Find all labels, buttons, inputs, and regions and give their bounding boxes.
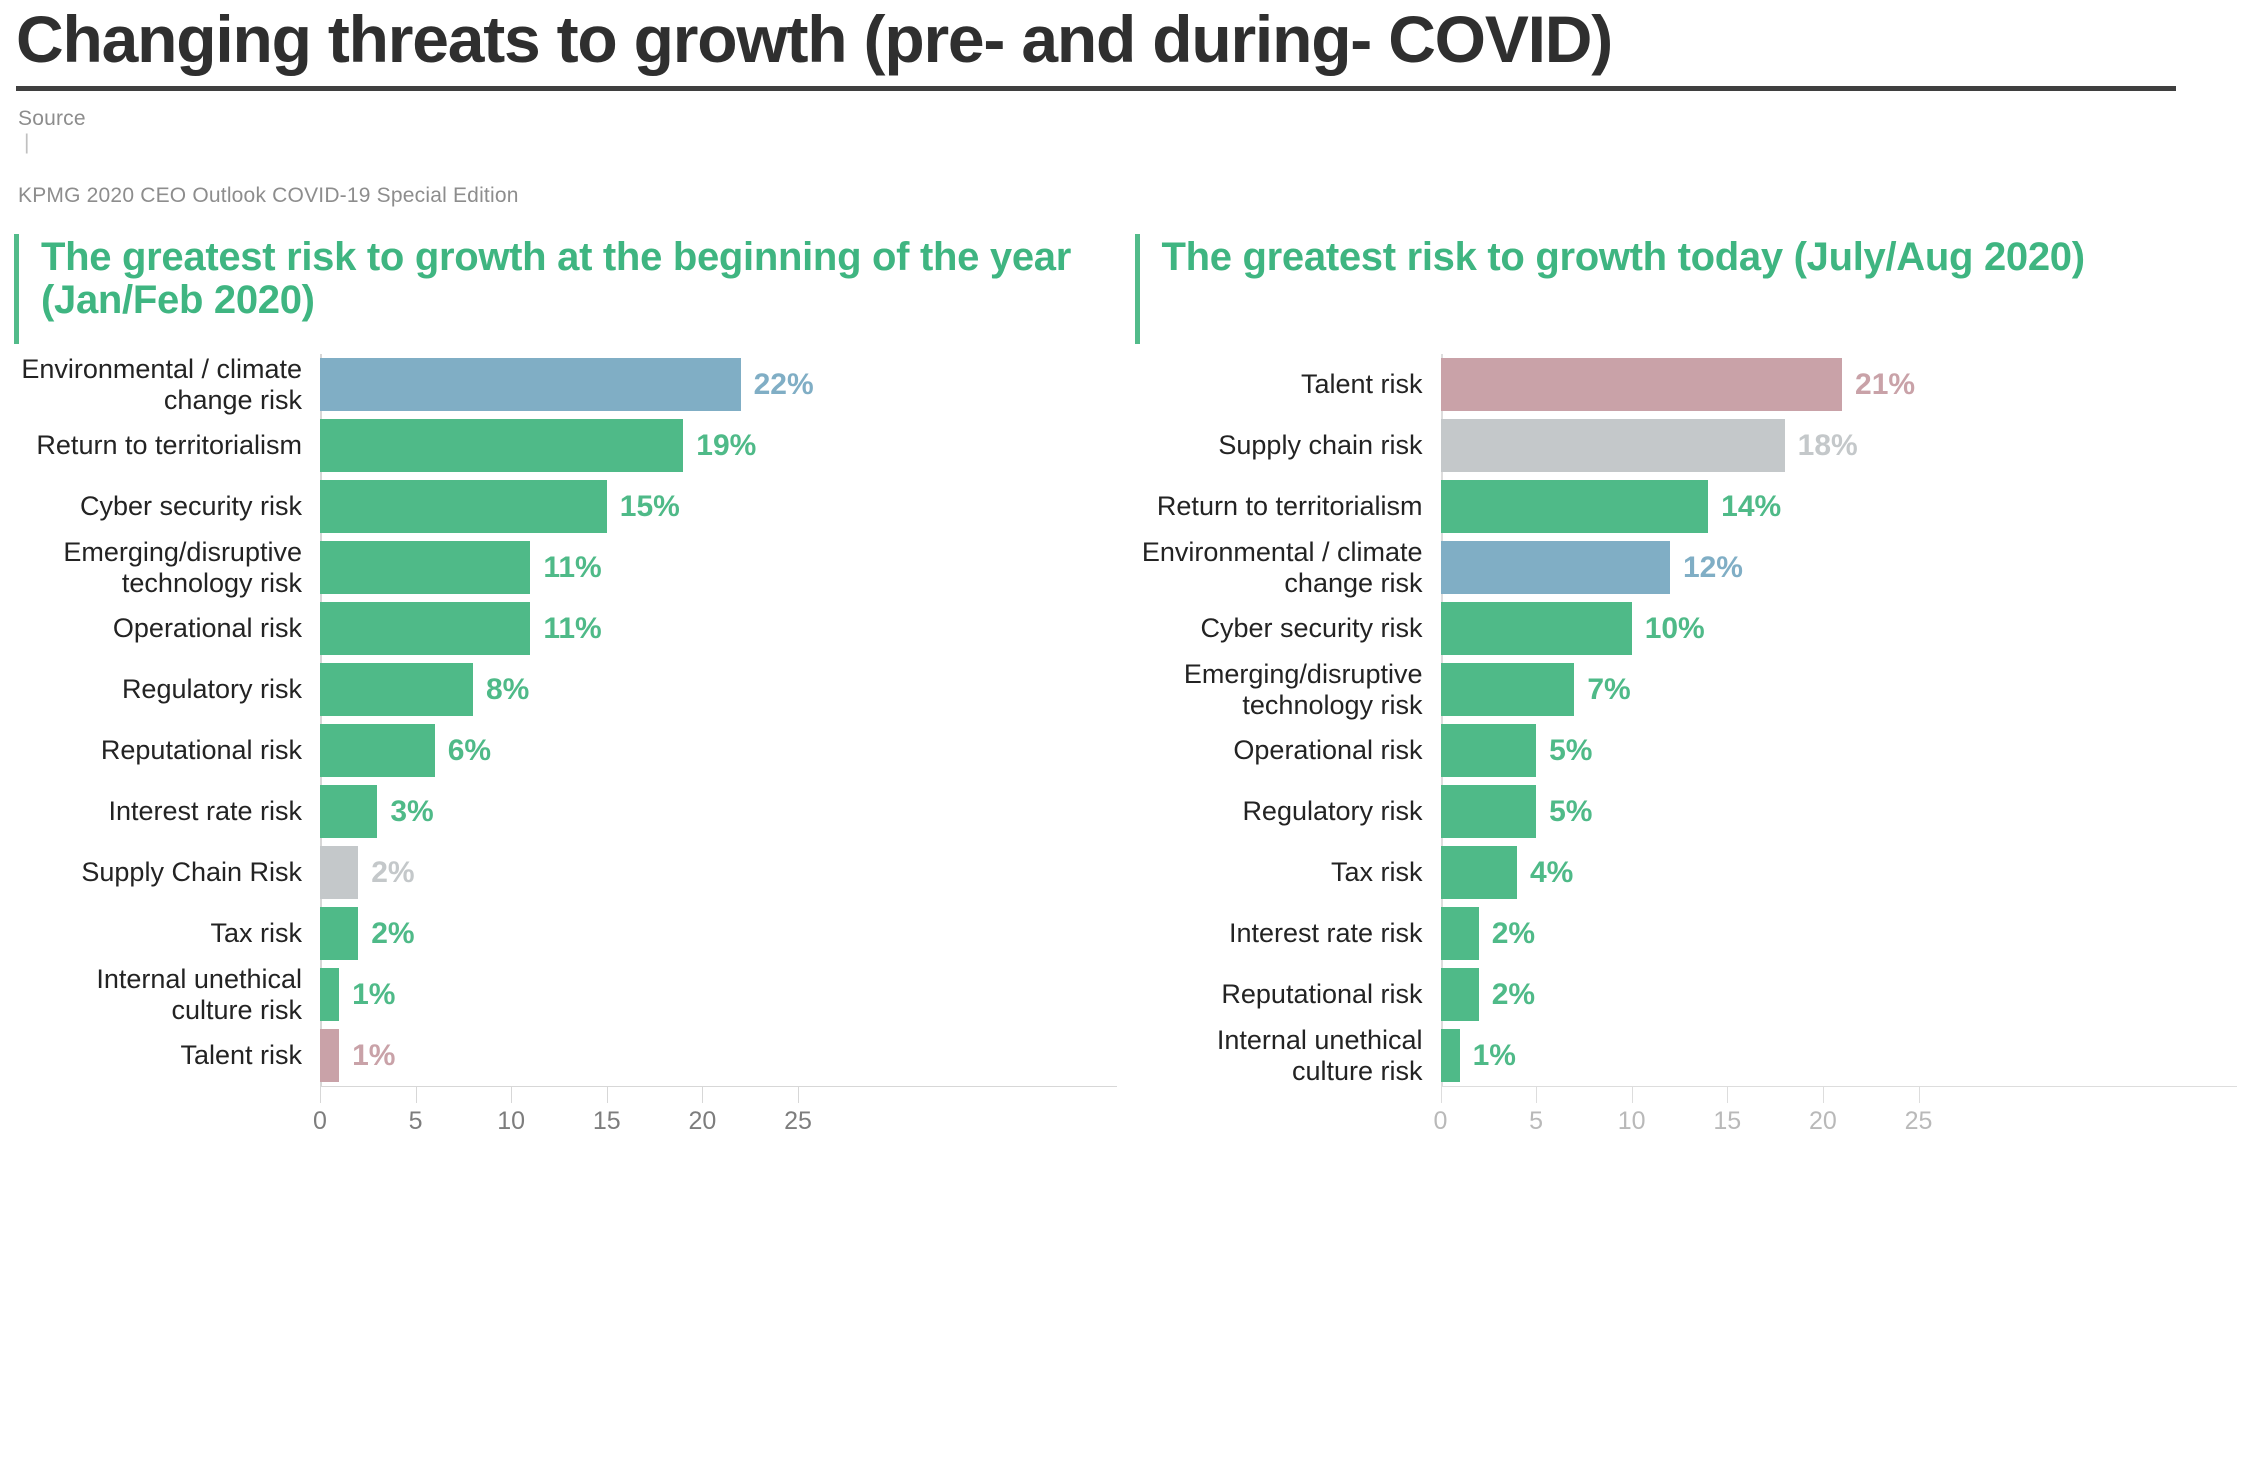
bar-plot-area: 10% bbox=[1441, 598, 2238, 659]
heading-accent-bar-right bbox=[1135, 234, 1140, 344]
bar-row: Reputational risk2% bbox=[1135, 964, 2238, 1025]
bar-row: Operational risk11% bbox=[14, 598, 1117, 659]
bar-plot-area: 5% bbox=[1441, 781, 2238, 842]
chart-panel-left: The greatest risk to growth at the begin… bbox=[14, 234, 1117, 1133]
bar-segment bbox=[1441, 541, 1670, 594]
axis-tick-mark bbox=[1632, 1087, 1633, 1103]
bar-value-label: 2% bbox=[1492, 978, 1535, 1012]
bar-category-label: Emerging/disruptive technology risk bbox=[1135, 659, 1441, 719]
bar-row: Cyber security risk10% bbox=[1135, 598, 2238, 659]
bar-row: Tax risk2% bbox=[14, 903, 1117, 964]
bar-category-label: Talent risk bbox=[14, 1040, 320, 1070]
bar-category-label: Regulatory risk bbox=[1135, 796, 1441, 826]
bar-segment bbox=[320, 846, 358, 899]
axis-tick-label: 10 bbox=[1618, 1107, 1646, 1136]
bar-plot-area: 4% bbox=[1441, 842, 2238, 903]
bar-row: Environmental / climate change risk22% bbox=[14, 354, 1117, 415]
bar-category-label: Environmental / climate change risk bbox=[14, 354, 320, 414]
axis-tick-mark bbox=[702, 1087, 703, 1103]
axis-tick-label: 5 bbox=[409, 1107, 423, 1136]
chart-panel-right: The greatest risk to growth today (July/… bbox=[1135, 234, 2238, 1133]
axis-tick-mark bbox=[1441, 1087, 1442, 1103]
bar-row: Return to territorialism14% bbox=[1135, 476, 2238, 537]
bar-plot-area: 1% bbox=[1441, 1025, 2238, 1086]
bar-value-label: 12% bbox=[1683, 551, 1743, 585]
page-title: Changing threats to growth (pre- and dur… bbox=[14, 0, 2237, 86]
bar-plot-area: 3% bbox=[320, 781, 1117, 842]
bar-category-label: Tax risk bbox=[1135, 857, 1441, 887]
bar-value-label: 11% bbox=[543, 612, 601, 646]
chart-heading-text-right: The greatest risk to growth today (July/… bbox=[1162, 234, 2085, 279]
axis-tick-label: 10 bbox=[497, 1107, 525, 1136]
bar-plot-area: 1% bbox=[320, 964, 1117, 1025]
bar-segment bbox=[1441, 419, 1785, 472]
bar-plot-area: 11% bbox=[320, 537, 1117, 598]
axis-tick-mark bbox=[1919, 1087, 1920, 1103]
value-axis-ticks-left: 0510152025 bbox=[320, 1087, 1117, 1133]
bar-value-label: 4% bbox=[1530, 856, 1573, 890]
bar-row: Reputational risk6% bbox=[14, 720, 1117, 781]
value-axis-ticks-right: 0510152025 bbox=[1441, 1087, 2238, 1133]
bar-plot-area: 2% bbox=[320, 842, 1117, 903]
bar-category-label: Tax risk bbox=[14, 918, 320, 948]
bar-segment bbox=[1441, 785, 1537, 838]
bar-segment bbox=[1441, 968, 1479, 1021]
bar-category-label: Emerging/disruptive technology risk bbox=[14, 537, 320, 597]
bar-value-label: 10% bbox=[1645, 612, 1705, 646]
bar-row: Emerging/disruptive technology risk7% bbox=[1135, 659, 2238, 720]
bar-category-label: Operational risk bbox=[14, 613, 320, 643]
bar-category-label: Operational risk bbox=[1135, 735, 1441, 765]
bar-segment bbox=[320, 480, 607, 533]
bar-row: Regulatory risk5% bbox=[1135, 781, 2238, 842]
axis-tick-mark bbox=[1823, 1087, 1824, 1103]
bar-plot-area: 22% bbox=[320, 354, 1117, 415]
bar-category-label: Supply Chain Risk bbox=[14, 857, 320, 887]
bar-segment bbox=[320, 968, 339, 1021]
axis-tick-mark bbox=[320, 1087, 321, 1103]
bar-category-label: Regulatory risk bbox=[14, 674, 320, 704]
bar-row: Environmental / climate change risk12% bbox=[1135, 537, 2238, 598]
bar-plot-area: 11% bbox=[320, 598, 1117, 659]
bar-category-label: Talent risk bbox=[1135, 369, 1441, 399]
bar-value-label: 1% bbox=[1473, 1039, 1516, 1073]
bar-value-label: 5% bbox=[1549, 734, 1592, 768]
bar-segment bbox=[1441, 846, 1517, 899]
bar-row: Talent risk1% bbox=[14, 1025, 1117, 1086]
bar-value-label: 14% bbox=[1721, 490, 1781, 524]
bar-plot-area: 2% bbox=[1441, 964, 2238, 1025]
bar-row: Supply chain risk18% bbox=[1135, 415, 2238, 476]
axis-tick-mark bbox=[416, 1087, 417, 1103]
source-label: Source bbox=[18, 107, 86, 130]
bar-value-label: 3% bbox=[390, 795, 433, 829]
bar-plot-area: 19% bbox=[320, 415, 1117, 476]
bar-category-label: Environmental / climate change risk bbox=[1135, 537, 1441, 597]
chart-heading-text-left: The greatest risk to growth at the begin… bbox=[41, 234, 1117, 322]
source-text: KPMG 2020 CEO Outlook COVID-19 Special E… bbox=[18, 184, 519, 207]
bar-category-label: Reputational risk bbox=[14, 735, 320, 765]
bar-segment bbox=[1441, 724, 1537, 777]
bar-category-label: Interest rate risk bbox=[14, 796, 320, 826]
bar-row: Emerging/disruptive technology risk11% bbox=[14, 537, 1117, 598]
axis-tick-mark bbox=[1727, 1087, 1728, 1103]
bar-value-label: 19% bbox=[696, 429, 756, 463]
bar-value-label: 8% bbox=[486, 673, 529, 707]
axis-tick-label: 5 bbox=[1529, 1107, 1543, 1136]
bar-segment bbox=[320, 358, 741, 411]
bar-value-label: 18% bbox=[1798, 429, 1858, 463]
bar-row: Operational risk5% bbox=[1135, 720, 2238, 781]
bar-row: Return to territorialism19% bbox=[14, 415, 1117, 476]
axis-tick-label: 25 bbox=[1905, 1107, 1933, 1136]
bar-segment bbox=[1441, 602, 1632, 655]
bar-segment bbox=[320, 907, 358, 960]
chart-heading-left: The greatest risk to growth at the begin… bbox=[14, 234, 1117, 344]
bar-plot-area: 1% bbox=[320, 1025, 1117, 1086]
bar-row: Talent risk21% bbox=[1135, 354, 2238, 415]
bar-segment bbox=[1441, 480, 1709, 533]
bar-category-label: Reputational risk bbox=[1135, 979, 1441, 1009]
bar-segment bbox=[320, 724, 435, 777]
bar-category-label: Return to territorialism bbox=[14, 430, 320, 460]
bar-segment bbox=[1441, 663, 1575, 716]
bar-segment bbox=[1441, 1029, 1460, 1082]
bar-rows-right: Talent risk21%Supply chain risk18%Return… bbox=[1135, 354, 2238, 1086]
axis-tick-mark bbox=[607, 1087, 608, 1103]
bar-row: Tax risk4% bbox=[1135, 842, 2238, 903]
bar-category-label: Internal unethical culture risk bbox=[14, 964, 320, 1024]
bar-value-label: 2% bbox=[371, 856, 414, 890]
bar-value-label: 1% bbox=[352, 978, 395, 1012]
bar-row: Supply Chain Risk2% bbox=[14, 842, 1117, 903]
axis-tick-mark bbox=[511, 1087, 512, 1103]
bar-row: Regulatory risk8% bbox=[14, 659, 1117, 720]
heading-accent-bar-left bbox=[14, 234, 19, 344]
source-line: Source | KPMG 2020 CEO Outlook COVID-19 … bbox=[14, 91, 2237, 208]
bar-plot-area: 21% bbox=[1441, 354, 2238, 415]
bar-segment bbox=[320, 541, 530, 594]
source-divider: | bbox=[18, 131, 2237, 184]
bar-value-label: 5% bbox=[1549, 795, 1592, 829]
bar-rows-left: Environmental / climate change risk22%Re… bbox=[14, 354, 1117, 1086]
bar-plot-area: 18% bbox=[1441, 415, 2238, 476]
bar-segment bbox=[320, 1029, 339, 1082]
axis-tick-label: 15 bbox=[593, 1107, 621, 1136]
bar-chart-left: Environmental / climate change risk22%Re… bbox=[14, 354, 1117, 1133]
bar-segment bbox=[320, 785, 377, 838]
bar-chart-right: Talent risk21%Supply chain risk18%Return… bbox=[1135, 354, 2238, 1133]
bar-plot-area: 8% bbox=[320, 659, 1117, 720]
bar-plot-area: 6% bbox=[320, 720, 1117, 781]
bar-category-label: Return to territorialism bbox=[1135, 491, 1441, 521]
bar-category-label: Cyber security risk bbox=[1135, 613, 1441, 643]
bar-value-label: 2% bbox=[371, 917, 414, 951]
bar-plot-area: 5% bbox=[1441, 720, 2238, 781]
bar-row: Cyber security risk15% bbox=[14, 476, 1117, 537]
bar-segment bbox=[320, 663, 473, 716]
bar-value-label: 21% bbox=[1855, 368, 1915, 402]
axis-tick-mark bbox=[798, 1087, 799, 1103]
bar-value-label: 15% bbox=[620, 490, 680, 524]
chart-heading-right: The greatest risk to growth today (July/… bbox=[1135, 234, 2238, 344]
bar-row: Interest rate risk2% bbox=[1135, 903, 2238, 964]
axis-tick-label: 0 bbox=[1434, 1107, 1448, 1136]
axis-tick-label: 20 bbox=[1809, 1107, 1837, 1136]
bar-category-label: Internal unethical culture risk bbox=[1135, 1025, 1441, 1085]
bar-row: Internal unethical culture risk1% bbox=[1135, 1025, 2238, 1086]
bar-plot-area: 7% bbox=[1441, 659, 2238, 720]
axis-tick-label: 0 bbox=[313, 1107, 327, 1136]
bar-plot-area: 2% bbox=[320, 903, 1117, 964]
bar-plot-area: 2% bbox=[1441, 903, 2238, 964]
bar-segment bbox=[1441, 358, 1843, 411]
bar-row: Internal unethical culture risk1% bbox=[14, 964, 1117, 1025]
bar-plot-area: 12% bbox=[1441, 537, 2238, 598]
bar-value-label: 7% bbox=[1587, 673, 1630, 707]
bar-category-label: Interest rate risk bbox=[1135, 918, 1441, 948]
axis-tick-mark bbox=[1536, 1087, 1537, 1103]
bar-segment bbox=[320, 602, 530, 655]
bar-segment bbox=[1441, 907, 1479, 960]
axis-tick-label: 20 bbox=[688, 1107, 716, 1136]
axis-tick-label: 25 bbox=[784, 1107, 812, 1136]
bar-segment bbox=[320, 419, 683, 472]
bar-category-label: Supply chain risk bbox=[1135, 430, 1441, 460]
bar-value-label: 11% bbox=[543, 551, 601, 585]
bar-value-label: 22% bbox=[754, 368, 814, 402]
bar-row: Interest rate risk3% bbox=[14, 781, 1117, 842]
bar-plot-area: 15% bbox=[320, 476, 1117, 537]
bar-value-label: 1% bbox=[352, 1039, 395, 1073]
bar-plot-area: 14% bbox=[1441, 476, 2238, 537]
slide-root: Changing threats to growth (pre- and dur… bbox=[0, 0, 2251, 1474]
charts-container: The greatest risk to growth at the begin… bbox=[14, 234, 2237, 1133]
bar-value-label: 2% bbox=[1492, 917, 1535, 951]
axis-tick-label: 15 bbox=[1713, 1107, 1741, 1136]
bar-category-label: Cyber security risk bbox=[14, 491, 320, 521]
bar-value-label: 6% bbox=[448, 734, 491, 768]
